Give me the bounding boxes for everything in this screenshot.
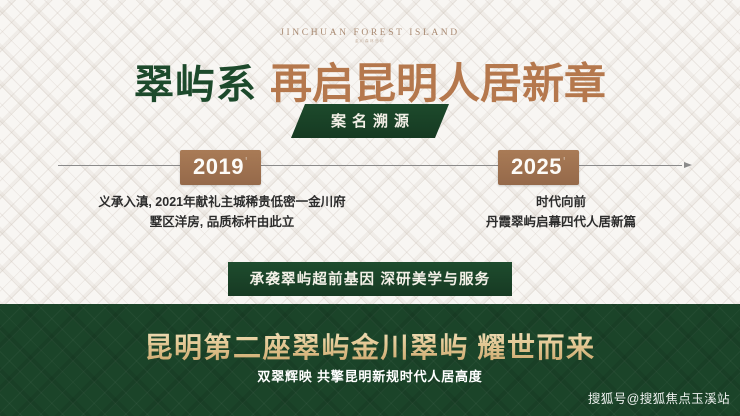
year-tick-2019: ': [245, 154, 248, 169]
timeline-desc-2025-line-1: 时代向前: [437, 192, 685, 212]
brand-mark: JINCHUAN FOREST ISLAND 金川森林岛屿: [0, 28, 740, 44]
watermark: 搜狐号@搜狐焦点玉溪站: [588, 388, 730, 407]
timeline-year-badge-2019: 2019': [180, 150, 261, 185]
bottom-title: 昆明第二座翠屿金川翠屿 耀世而来: [0, 326, 740, 366]
timeline-arrow-icon: [684, 162, 692, 168]
section-tag-banner: 案名溯源: [291, 104, 449, 138]
page-title: 翠屿系再启昆明人居新章: [0, 50, 740, 111]
section-tag-container: 案名溯源: [0, 104, 740, 138]
timeline-desc-2025-line-2: 丹霞翠屿启幕四代人居新篇: [437, 212, 685, 232]
headline-tagline: 再启昆明人居新章: [270, 62, 606, 108]
bottom-panel: 昆明第二座翠屿金川翠屿 耀世而来 双翠辉映 共擎昆明新规时代人居高度 搜狐号@搜…: [0, 304, 740, 416]
mid-bar-label: 承袭翠屿超前基因 深研美学与服务: [228, 262, 513, 296]
timeline-desc-2019: 义承入滇, 2021年献礼主城稀贵低密一金川府 墅区洋房, 品质标杆由此立: [62, 192, 382, 233]
year-label-2025: 2025: [511, 154, 562, 179]
brand-name: JINCHUAN FOREST ISLAND: [0, 28, 740, 38]
timeline-desc-2019-line-1: 义承入滇, 2021年献礼主城稀贵低密一金川府: [62, 192, 382, 212]
headline-series-name: 翠屿系: [134, 62, 257, 107]
timeline-axis: [58, 165, 692, 167]
year-label-2019: 2019: [193, 154, 244, 179]
year-tick-2025: ': [563, 154, 566, 169]
mid-bar-container: 承袭翠屿超前基因 深研美学与服务: [0, 262, 740, 296]
timeline-desc-2019-line-2: 墅区洋房, 品质标杆由此立: [62, 212, 382, 232]
timeline-line: [58, 165, 682, 166]
timeline-desc-2025: 时代向前 丹霞翠屿启幕四代人居新篇: [437, 192, 685, 233]
brand-subtitle: 金川森林岛屿: [0, 39, 740, 44]
timeline-year-badge-2025: 2025': [498, 150, 579, 185]
poster-canvas: JINCHUAN FOREST ISLAND 金川森林岛屿 翠屿系再启昆明人居新…: [0, 0, 740, 416]
bottom-subtitle: 双翠辉映 共擎昆明新规时代人居高度: [0, 366, 740, 385]
